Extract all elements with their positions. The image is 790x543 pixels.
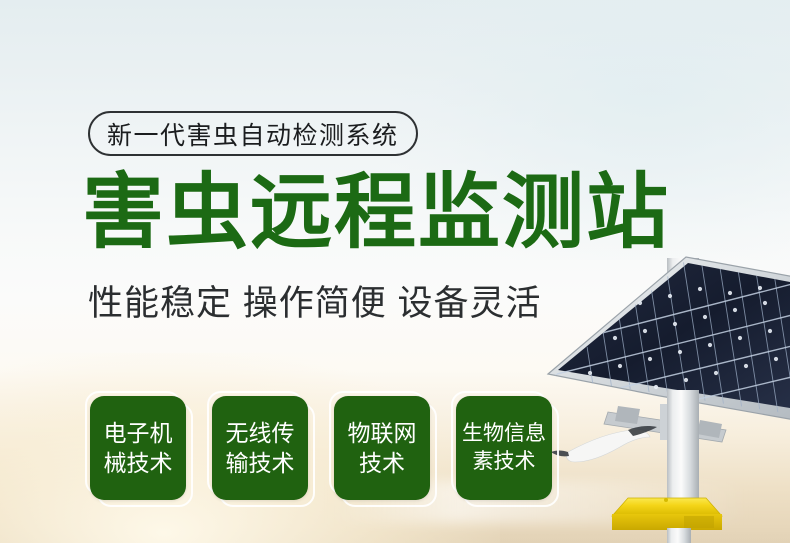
page-subtitle: 性能稳定 操作简便 设备灵活	[88, 283, 541, 325]
promo-banner: 新一代害虫自动检测系统 害虫远程监测站 性能稳定 操作简便 设备灵活 电子机 械…	[0, 0, 790, 543]
feature-tag-label: 生物信息 素技术	[456, 396, 552, 500]
tag-line-1: 无线传	[226, 418, 295, 448]
tag-line-1: 生物信息	[462, 420, 546, 448]
tag-line-2: 输技术	[226, 448, 295, 478]
feature-tag-electromechanical[interactable]: 电子机 械技术	[90, 396, 186, 500]
feature-tag-label: 无线传 输技术	[212, 396, 308, 500]
tag-line-1: 电子机	[104, 418, 173, 448]
tagline-badge-text: 新一代害虫自动检测系统	[107, 116, 399, 152]
tag-line-2: 素技术	[462, 448, 546, 476]
tag-line-2: 技术	[348, 448, 417, 478]
feature-tag-iot[interactable]: 物联网 技术	[334, 396, 430, 500]
tag-line-2: 械技术	[104, 448, 173, 478]
tag-line-1: 物联网	[348, 418, 417, 448]
feature-tag-list: 电子机 械技术 无线传 输技术	[90, 396, 552, 500]
feature-tag-label: 物联网 技术	[334, 396, 430, 500]
tagline-badge: 新一代害虫自动检测系统	[88, 111, 418, 156]
banner-content: 新一代害虫自动检测系统 害虫远程监测站 性能稳定 操作简便 设备灵活 电子机 械…	[0, 0, 790, 543]
page-title: 害虫远程监测站	[82, 172, 670, 254]
feature-tag-wireless-transmission[interactable]: 无线传 输技术	[212, 396, 308, 500]
feature-tag-pheromone[interactable]: 生物信息 素技术	[456, 396, 552, 500]
feature-tag-label: 电子机 械技术	[90, 396, 186, 500]
